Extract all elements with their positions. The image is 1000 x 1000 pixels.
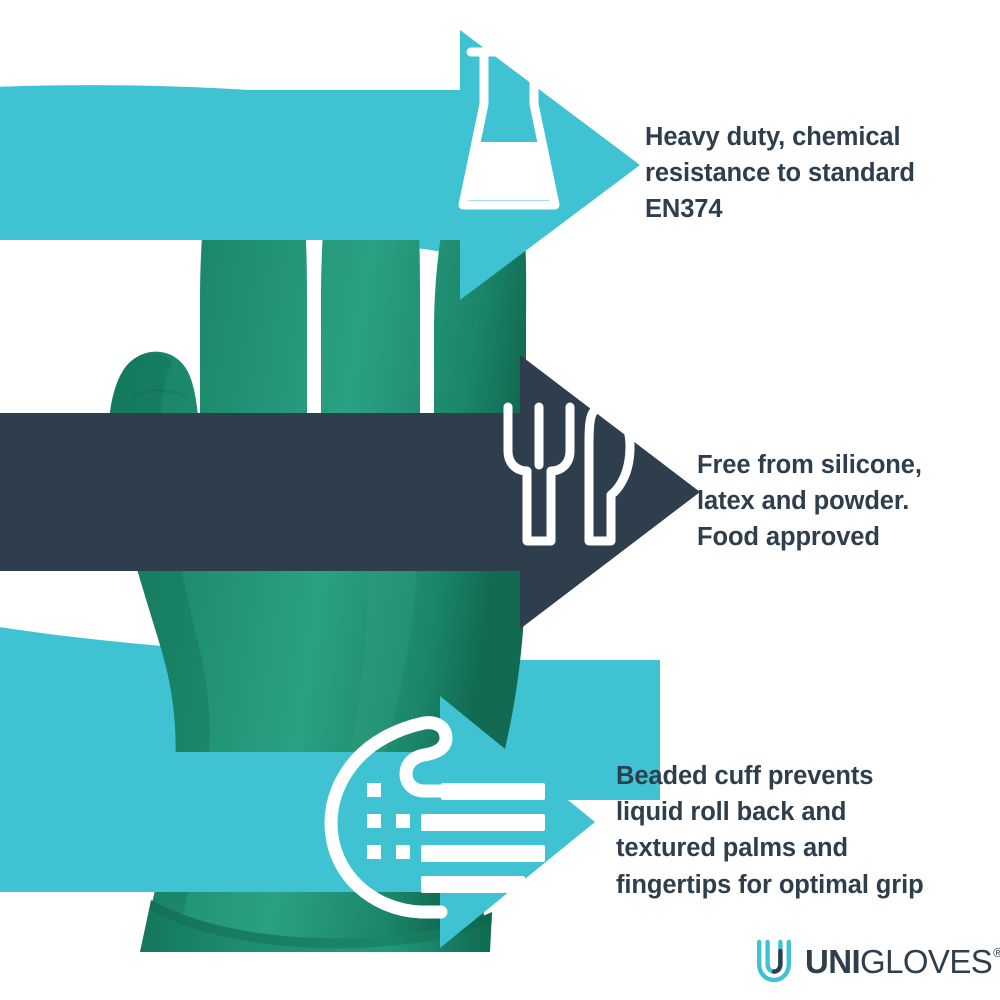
feature-text-line: fingertips for optimal grip bbox=[616, 867, 986, 903]
unigloves-wordmark: UNI GLOVES ® bbox=[805, 945, 1000, 978]
logo-gloves-text: GLOVES bbox=[860, 945, 992, 978]
registered-trademark-symbol: ® bbox=[993, 946, 1000, 959]
feature-text-beaded-cuff-grip: Beaded cuff prevents liquid roll back an… bbox=[616, 758, 986, 903]
feature-arrow-chemical-resistance bbox=[0, 30, 640, 310]
unigloves-logo: UNI GLOVES ® bbox=[756, 938, 1000, 984]
flask-liquid bbox=[467, 142, 551, 200]
feature-arrow-beaded-cuff-grip bbox=[0, 690, 620, 955]
feature-text-line: liquid roll back and bbox=[616, 794, 986, 830]
feature-text-line: EN374 bbox=[645, 191, 975, 227]
logo-uni-text: UNI bbox=[805, 945, 860, 978]
feature-text-line: Free from silicone, bbox=[697, 447, 997, 483]
feature-text-chemical-resistance: Heavy duty, chemical resistance to stand… bbox=[645, 119, 975, 228]
feature-text-line: resistance to standard bbox=[645, 155, 975, 191]
feature-text-line: textured palms and bbox=[616, 830, 986, 866]
feature-text-food-approved: Free from silicone, latex and powder. Fo… bbox=[697, 447, 997, 556]
unigloves-u-mark bbox=[756, 939, 792, 983]
feature-text-line: Heavy duty, chemical bbox=[645, 119, 975, 155]
feature-arrow-food-approved bbox=[0, 355, 700, 635]
feature-text-line: Food approved bbox=[697, 519, 997, 555]
infographic-canvas: Heavy duty, chemical resistance to stand… bbox=[0, 0, 1000, 1000]
arrow-shape bbox=[0, 355, 700, 629]
feature-text-line: latex and powder. bbox=[697, 483, 997, 519]
feature-text-line: Beaded cuff prevents bbox=[616, 758, 986, 794]
